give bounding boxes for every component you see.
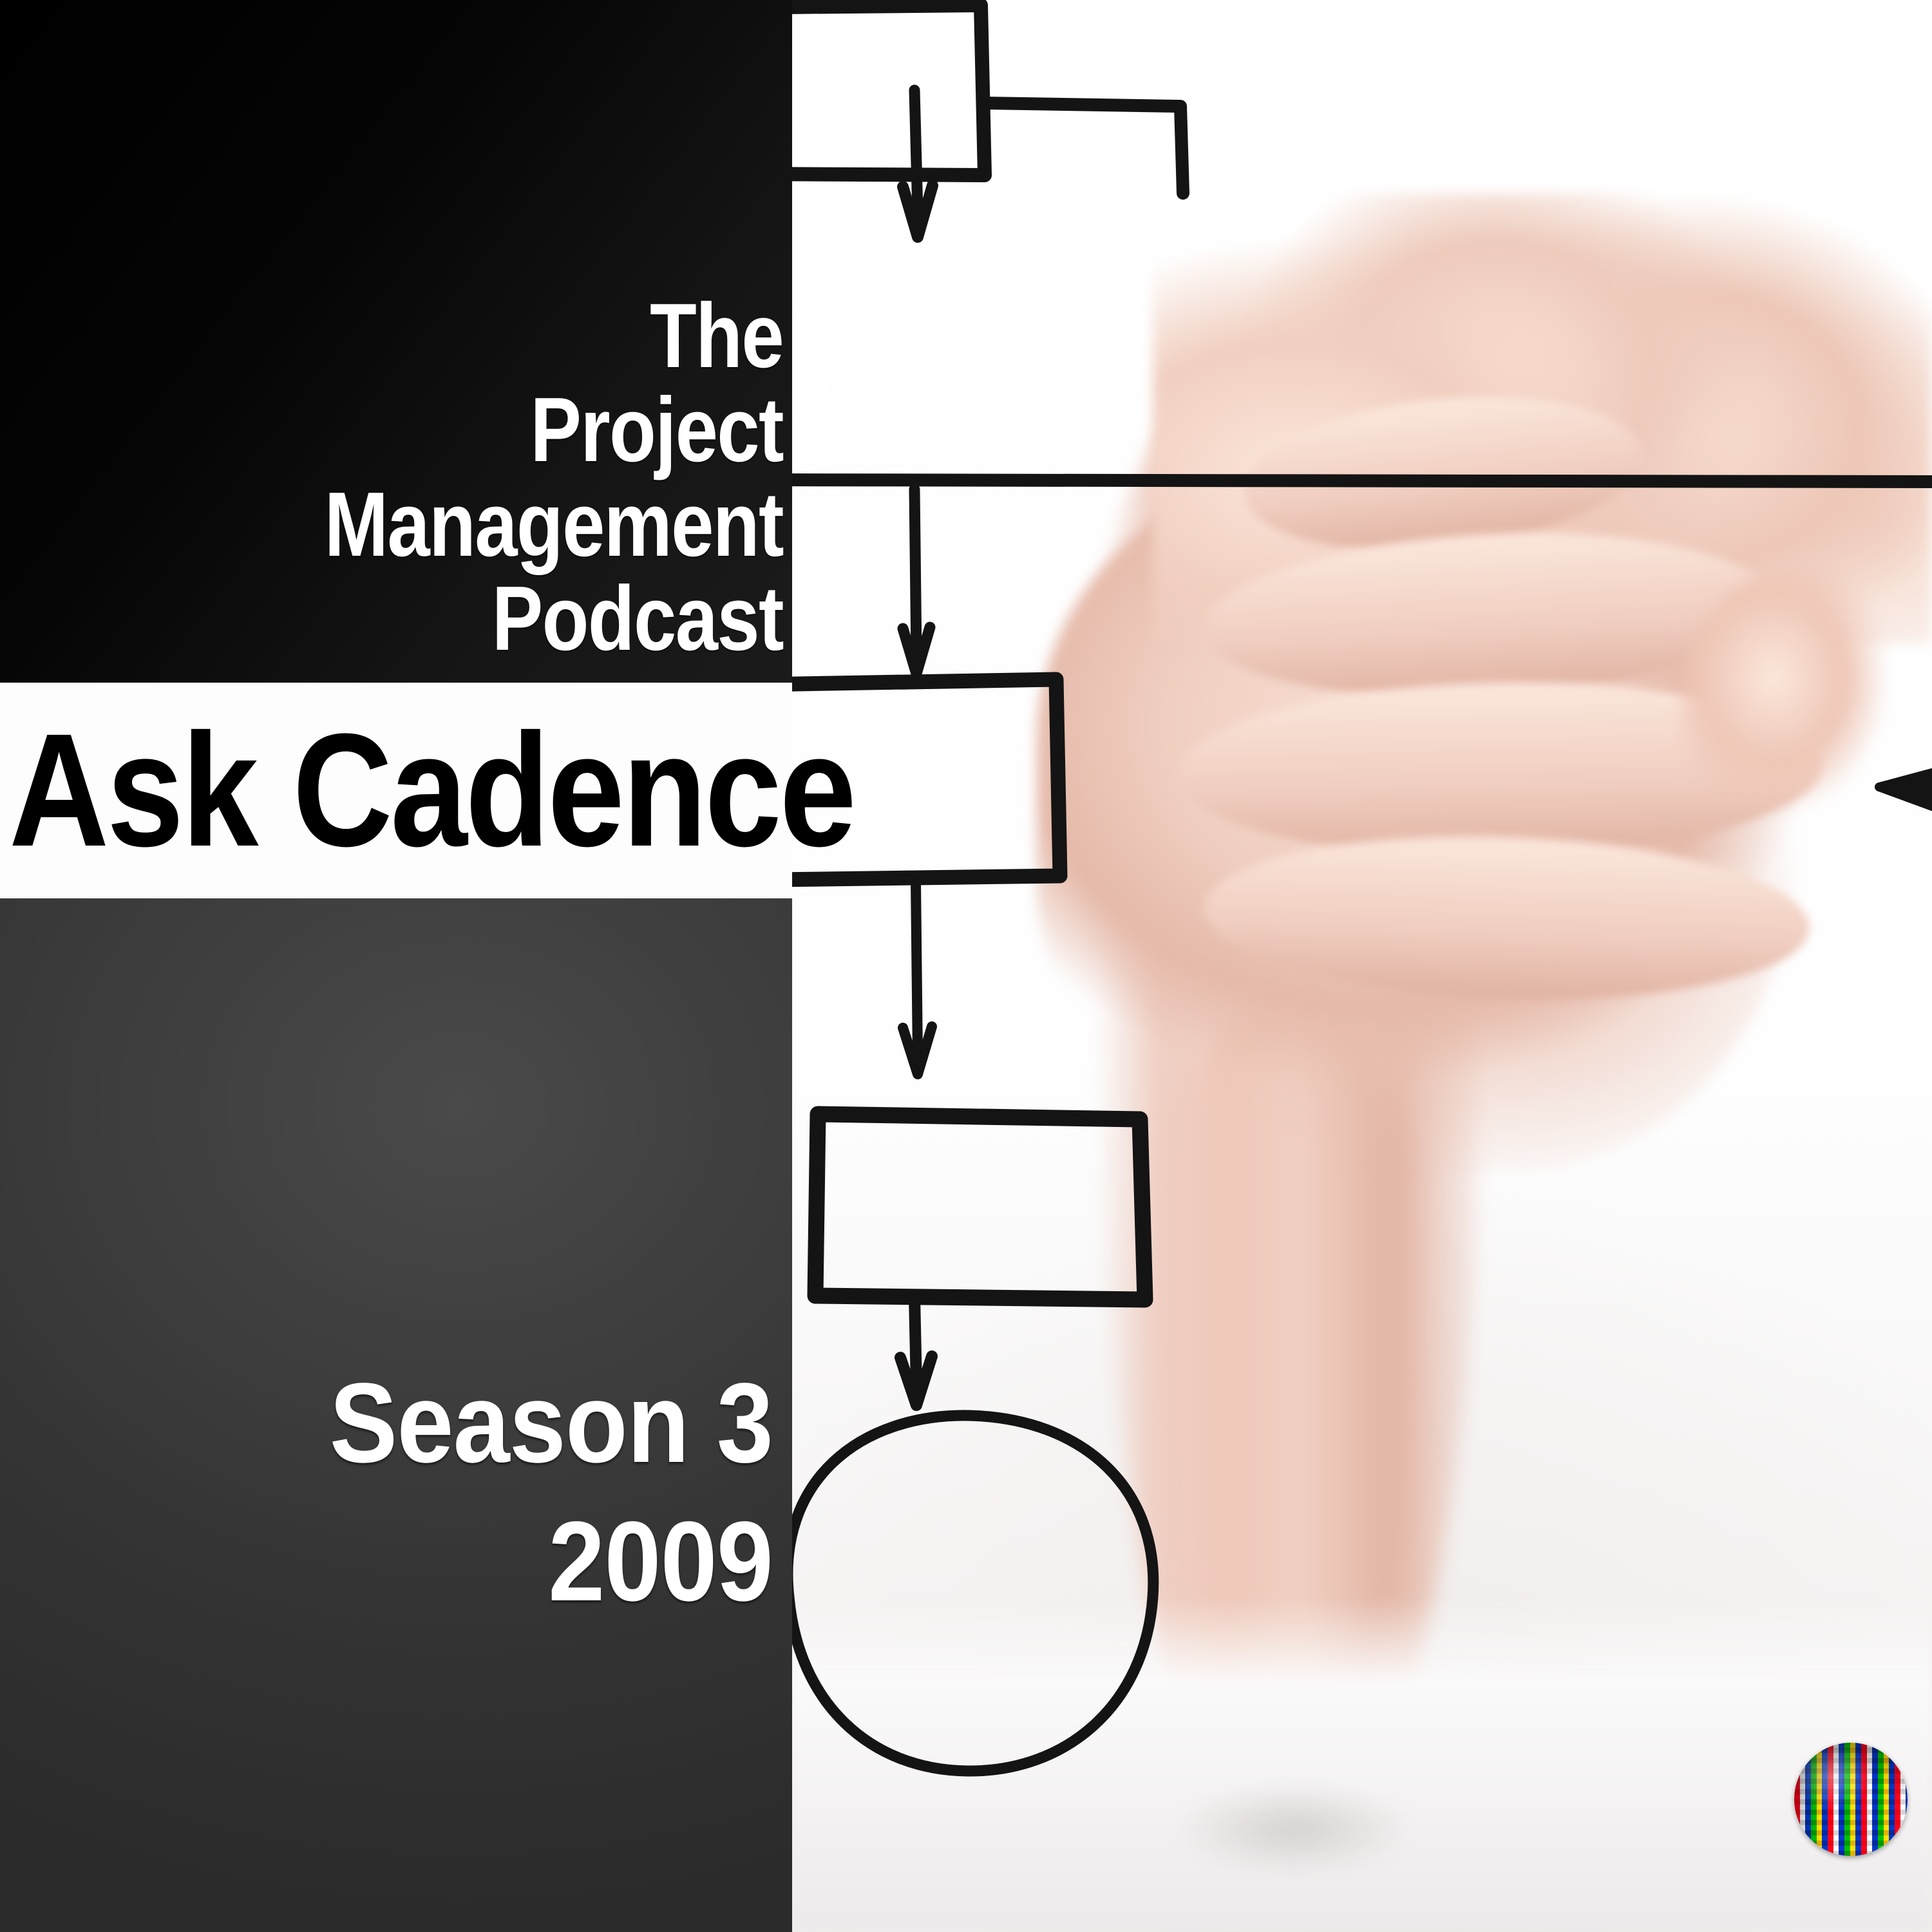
globe-shading	[1794, 1743, 1908, 1856]
season-panel: Season 3 2009	[0, 898, 792, 1932]
flowchart-node-rect-2	[985, 103, 1183, 193]
left-text-column: The Project Management Podcast Ask Caden…	[0, 0, 792, 1932]
podcast-title: The Project Management Podcast	[126, 289, 783, 666]
flowchart-node-rect-4	[792, 269, 1932, 482]
segment-band: Ask Cadence	[0, 683, 792, 898]
flowchart-arrow-2	[914, 90, 918, 213]
flowchart-arrow-5	[916, 881, 918, 1056]
segment-title: Ask Cadence	[9, 710, 855, 871]
globe-icon	[1794, 1743, 1908, 1856]
flowchart-node-rect-1	[792, 5, 985, 175]
flowchart-node-ellipse-2	[792, 1416, 1153, 1771]
flowchart-arrow-3	[914, 489, 916, 657]
flowchart-arrow-incoming-head	[1879, 773, 1932, 806]
season-year-label: Season 3 2009	[77, 1354, 773, 1631]
flowchart-arrow-7	[914, 1298, 916, 1385]
hand-flowchart-photo	[792, 0, 1932, 1932]
title-panel: The Project Management Podcast	[0, 0, 792, 683]
flowchart-node-rect-7	[815, 1114, 1145, 1300]
podcast-cover-art: The Project Management Podcast Ask Caden…	[0, 0, 1932, 1932]
flowchart-drawing	[792, 0, 1932, 1932]
flag-globe-logo	[1794, 1743, 1908, 1856]
